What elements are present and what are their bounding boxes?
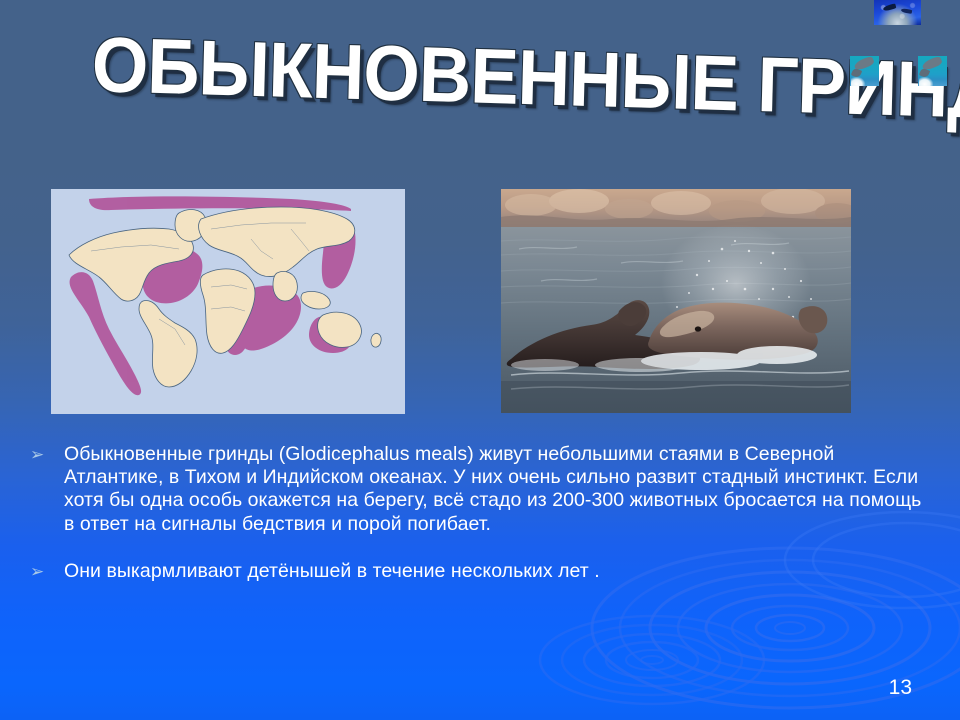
- water-splash: [919, 77, 933, 86]
- pilot-whale-photo-graphic: [501, 189, 851, 413]
- distribution-map-graphic: [51, 189, 405, 414]
- page-number: 13: [889, 677, 912, 698]
- presentation-slide: ОБЫКНОВЕННЫЕ ГРИНДЫ: [0, 0, 960, 720]
- bullet-text-2: Они выкармливают детёнышей в течение нес…: [64, 560, 936, 583]
- slide-title: ОБЫКНОВЕННЫЕ ГРИНДЫ: [92, 16, 852, 136]
- pilot-whale-photo: [501, 189, 851, 413]
- jumping-dolphin-photo-left: [850, 56, 879, 86]
- fish-shape: [901, 8, 913, 14]
- list-item: ➢ Обыкновенные гринды (Glodicephalus mea…: [24, 443, 936, 536]
- slide-body: ➢ Обыкновенные гринды (Glodicephalus mea…: [24, 443, 936, 583]
- distribution-map-image: [51, 189, 405, 414]
- fish-shape: [883, 3, 897, 11]
- bullet-arrow-icon: ➢: [24, 560, 64, 583]
- underwater-fish-clipart: [874, 0, 921, 25]
- bullet-text-1: Обыкновенные гринды (Glodicephalus meals…: [64, 443, 936, 536]
- water-splash: [851, 77, 865, 86]
- list-item: ➢ Они выкармливают детёнышей в течение н…: [24, 560, 936, 583]
- jumping-dolphin-photo-right: [918, 56, 947, 86]
- slide-title-text: ОБЫКНОВЕННЫЕ ГРИНДЫ: [91, 16, 800, 133]
- bullet-arrow-icon: ➢: [24, 443, 64, 466]
